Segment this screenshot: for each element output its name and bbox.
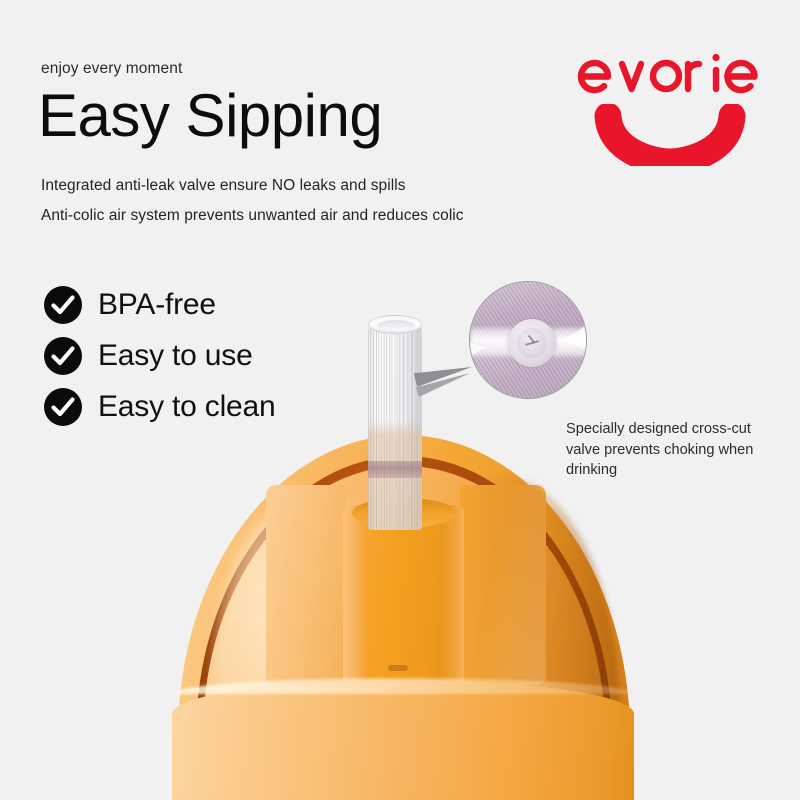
feature-label: BPA-free: [98, 288, 216, 322]
straw-channel-right-wall: [440, 505, 464, 687]
cup-body-band: [172, 680, 634, 800]
cross-cut-slit-icon: [525, 338, 539, 348]
cross-cut-valve: [508, 319, 556, 367]
straw-ribs: [368, 323, 422, 530]
page-title: Easy Sipping: [38, 84, 382, 148]
tagline: enjoy every moment: [41, 60, 182, 78]
check-circle-icon: [44, 286, 82, 324]
lid-ledge-left: [266, 485, 346, 685]
silicone-straw: [368, 315, 422, 530]
subheading-line-1: Integrated anti-leak valve ensure NO lea…: [41, 177, 406, 195]
magnifier-inset-circle: [469, 281, 587, 399]
subheading-line-2: Anti-colic air system prevents unwanted …: [41, 207, 464, 225]
brand-logo: [578, 48, 764, 168]
evorie-wordmark-icon: [578, 48, 764, 100]
feature-item-easy-to-use: Easy to use: [44, 331, 276, 381]
feature-item-bpa-free: BPA-free: [44, 280, 276, 330]
straw-channel-left-wall: [343, 505, 366, 687]
smile-swoosh-icon: [594, 104, 746, 166]
check-circle-icon: [44, 337, 82, 375]
straw-opening: [377, 320, 415, 331]
marketing-banner: enjoy every moment Easy Sipping Integrat…: [0, 0, 800, 800]
straw-top-rim: [368, 315, 422, 334]
lid-vent-notch: [388, 665, 408, 671]
cross-cut-valve-inner: [517, 328, 547, 358]
feature-label: Easy to use: [98, 339, 253, 373]
letter-i-dot-icon: [712, 54, 719, 61]
